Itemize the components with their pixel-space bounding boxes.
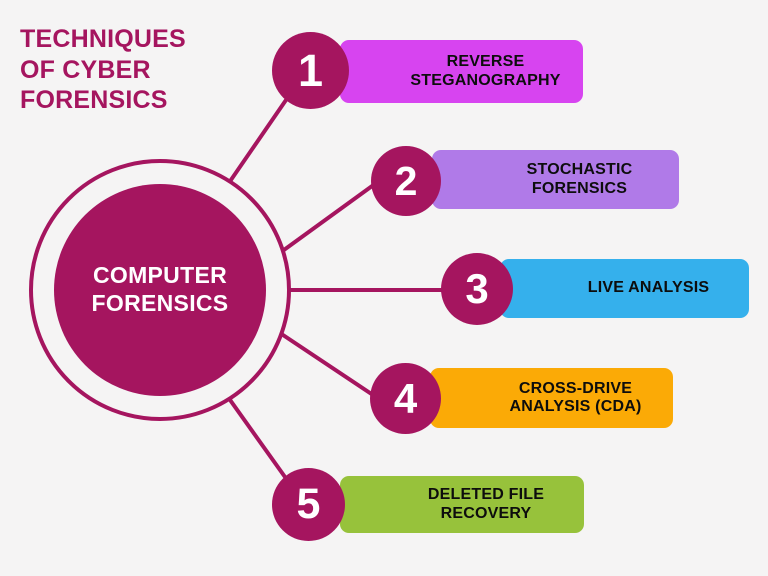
technique-bar-1[interactable]: Reverse Steganography: [340, 40, 583, 103]
technique-number-circle-2[interactable]: 2: [371, 146, 441, 216]
technique-number-circle-5[interactable]: 5: [272, 468, 345, 541]
technique-number-4: 4: [394, 378, 417, 420]
technique-bar-4[interactable]: Cross-Drive Analysis (CDA): [430, 368, 673, 428]
hub-circle: Computer Forensics: [29, 159, 291, 421]
technique-number-circle-3[interactable]: 3: [441, 253, 513, 325]
technique-label-2: Stochastic Forensics: [432, 161, 679, 198]
technique-label-5: Deleted File Recovery: [340, 486, 584, 523]
technique-number-3: 3: [465, 268, 488, 310]
technique-number-circle-1[interactable]: 1: [272, 32, 349, 109]
technique-number-1: 1: [298, 48, 323, 93]
technique-label-3: Live Analysis: [500, 279, 749, 297]
technique-number-5: 5: [297, 483, 321, 526]
connector-line-4: [277, 331, 379, 399]
technique-bar-2[interactable]: Stochastic Forensics: [432, 150, 679, 209]
connector-line-2: [277, 181, 379, 255]
technique-number-2: 2: [395, 161, 418, 202]
technique-label-1: Reverse Steganography: [340, 53, 583, 90]
technique-number-circle-4[interactable]: 4: [370, 363, 441, 434]
technique-bar-5[interactable]: Deleted File Recovery: [340, 476, 584, 533]
technique-label-4: Cross-Drive Analysis (CDA): [430, 380, 673, 417]
hub-label: Computer Forensics: [92, 262, 229, 317]
hub-disc: Computer Forensics: [54, 184, 266, 396]
infographic-canvas: Techniques of Cyber Forensics Computer F…: [0, 0, 768, 576]
technique-bar-3[interactable]: Live Analysis: [500, 259, 749, 318]
